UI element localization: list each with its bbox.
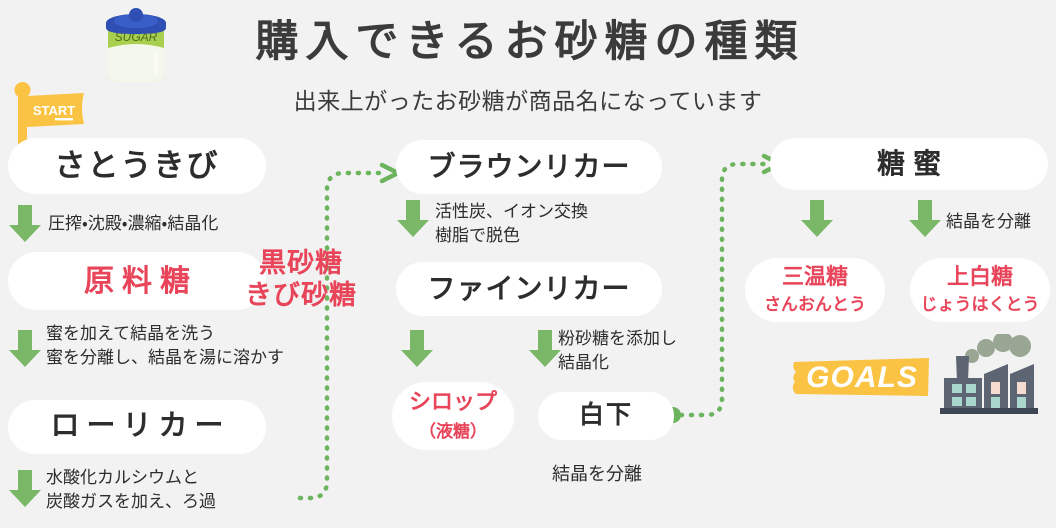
node-fine-liquor[interactable]: ファインリカー <box>396 262 662 316</box>
arrow-down-icon-middle-2 <box>400 330 434 368</box>
node-molasses[interactable]: 糖蜜 <box>770 138 1048 190</box>
arrow-down-icon-right-2 <box>908 200 942 238</box>
node-joohakutou-sublabel: じょうはくとう <box>921 290 1040 315</box>
node-raw-liquor[interactable]: ローリカー <box>8 400 266 454</box>
step-label-left-3: 水酸化カルシウムと 炭酸ガスを加え、ろ過 <box>46 466 346 514</box>
node-raw-liquor-label: ローリカー <box>43 411 230 443</box>
node-genryoutou-label: 原料糖 <box>76 265 198 298</box>
node-sanontou-sublabel: さんおんとう <box>764 290 866 315</box>
arrow-down-icon-left-2 <box>8 330 42 368</box>
step-label-right-1: 結晶を分離 <box>946 210 1056 234</box>
node-joohakutou[interactable]: 上白糖 じょうはくとう <box>910 258 1050 322</box>
node-sanontou-label: 三温糖 <box>782 265 848 289</box>
infographic-canvas: SUGAR 購入できるお砂糖の種類 出来上がったお砂糖が商品名になっています S… <box>0 0 1056 528</box>
step-label-left-2: 蜜を加えて結晶を洗う 蜜を分離し、結晶を湯に溶かす <box>46 322 346 370</box>
step-label-left-1: 圧搾・沈殿・濃縮・結晶化 <box>48 212 338 236</box>
arrow-down-icon-left-3 <box>8 470 42 508</box>
node-fine-liquor-label: ファインリカー <box>427 274 630 305</box>
node-syrup-sublabel: （液糖） <box>419 417 487 442</box>
node-joohakutou-label: 上白糖 <box>947 265 1013 289</box>
node-satoukibi[interactable]: さとうきび <box>8 138 266 194</box>
step-label-middle-1: 活性炭、イオン交換 樹脂で脱色 <box>435 200 665 248</box>
node-molasses-label: 糖蜜 <box>869 149 949 180</box>
node-sanontou[interactable]: 三温糖 さんおんとう <box>745 258 885 322</box>
factory-icon <box>922 334 1040 420</box>
node-satoukibi-label: さとうきび <box>55 149 220 183</box>
node-brown-liquor-label: ブラウンリカー <box>427 152 630 183</box>
note-middle-bottom: 結晶を分離 <box>552 462 732 486</box>
node-brown-liquor[interactable]: ブラウンリカー <box>396 140 662 194</box>
arrow-down-icon-right-1 <box>800 200 834 238</box>
goals-label: GOALS <box>800 358 924 398</box>
node-shiroshita-label: 白下 <box>579 402 633 430</box>
arrow-down-icon-middle-1 <box>396 200 430 238</box>
step-label-middle-2: 粉砂糖を添加し 結晶化 <box>558 327 738 375</box>
node-shiroshita[interactable]: 白下 <box>538 392 674 440</box>
arrow-down-icon-left-1 <box>8 205 42 243</box>
arrow-down-icon-middle-3 <box>528 330 562 368</box>
node-syrup[interactable]: シロップ （液糖） <box>392 382 514 450</box>
node-syrup-label: シロップ <box>409 390 497 414</box>
label-kurozatou-kibizatou: 黒砂糖 きび砂糖 <box>228 248 374 312</box>
